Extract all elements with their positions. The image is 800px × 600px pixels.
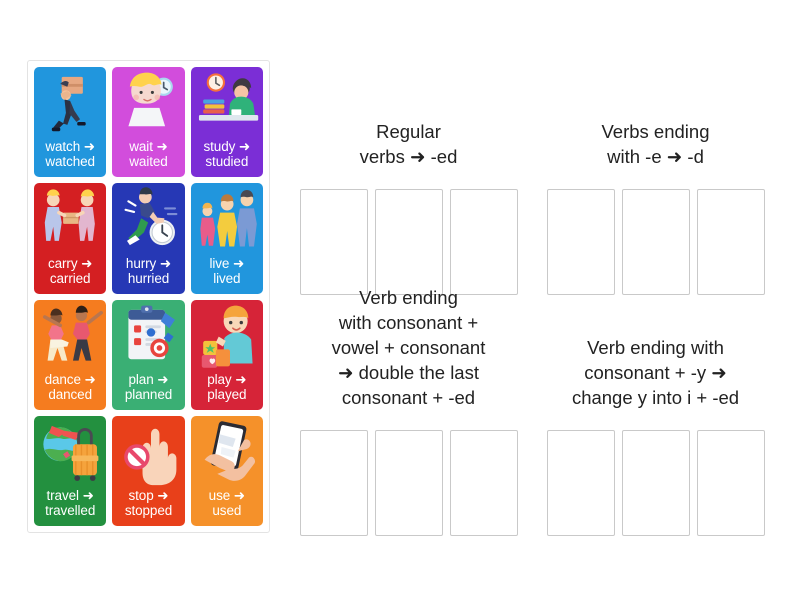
drop-slot[interactable]: [697, 430, 765, 536]
clipboard-plan-icon: [112, 300, 184, 371]
verb-tile-stop[interactable]: stop ➜ stopped: [112, 416, 184, 526]
drop-slot[interactable]: [375, 189, 443, 295]
verb-tile-wait[interactable]: wait ➜ waited: [112, 67, 184, 177]
category-group-cvc-double: Verb ending with consonant + vowel + con…: [286, 301, 531, 540]
verb-tile-study[interactable]: study ➜ studied: [191, 67, 263, 177]
verb-tile-caption: stop ➜ stopped: [112, 488, 184, 526]
student-books-clock-icon: [191, 67, 263, 138]
verb-tile-caption: hurry ➜ hurried: [112, 256, 184, 294]
drop-slot[interactable]: [450, 430, 518, 536]
verb-tile-caption: use ➜ used: [191, 488, 263, 526]
category-group-ending-e: Verbs ending with -e ➜ -d: [533, 60, 778, 299]
verb-tile-caption: wait ➜ waited: [112, 139, 184, 177]
stop-hand-icon: [112, 416, 184, 487]
verb-tile-hurry[interactable]: hurry ➜ hurried: [112, 183, 184, 293]
drop-slots-consonant-y: [533, 430, 778, 540]
category-title-ending-e: Verbs ending with -e ➜ -d: [533, 119, 778, 169]
category-group-consonant-y: Verb ending with consonant + -y ➜ change…: [533, 301, 778, 540]
two-people-box-icon: [34, 183, 106, 254]
drop-slots-regular: [286, 189, 531, 299]
drop-slots-ending-e: [533, 189, 778, 299]
verb-tile-caption: live ➜ lived: [191, 256, 263, 294]
verb-tile-plan[interactable]: plan ➜ planned: [112, 300, 184, 410]
drop-slot[interactable]: [300, 430, 368, 536]
sort-activity-page: watch ➜ watchedwait ➜ waitedstudy ➜ stud…: [0, 0, 800, 600]
verb-tile-carry[interactable]: carry ➜ carried: [34, 183, 106, 293]
drop-slot[interactable]: [547, 189, 615, 295]
verb-tile-caption: watch ➜ watched: [34, 139, 106, 177]
boy-with-clock-icon: [112, 67, 184, 138]
category-title-regular: Regular verbs ➜ -ed: [286, 119, 531, 169]
family-group-icon: [191, 183, 263, 254]
drop-slot[interactable]: [622, 430, 690, 536]
verb-tile-play[interactable]: play ➜ played: [191, 300, 263, 410]
dancing-couple-icon: [34, 300, 106, 371]
hand-phone-icon: [191, 416, 263, 487]
verb-tile-dance[interactable]: dance ➜ danced: [34, 300, 106, 410]
verb-tile-watch[interactable]: watch ➜ watched: [34, 67, 106, 177]
suitcase-globe-plane-icon: [34, 416, 106, 487]
running-person-clock-icon: [112, 183, 184, 254]
verb-tile-caption: study ➜ studied: [191, 139, 263, 177]
verb-tile-caption: dance ➜ danced: [34, 372, 106, 410]
drop-slots-cvc-double: [286, 430, 531, 540]
drop-slot[interactable]: [622, 189, 690, 295]
drop-slot[interactable]: [697, 189, 765, 295]
drop-slot[interactable]: [450, 189, 518, 295]
category-title-cvc-double: Verb ending with consonant + vowel + con…: [286, 285, 531, 410]
verb-tile-caption: play ➜ played: [191, 372, 263, 410]
verb-tile-travel[interactable]: travel ➜ travelled: [34, 416, 106, 526]
verb-tile-use[interactable]: use ➜ used: [191, 416, 263, 526]
drop-slot[interactable]: [300, 189, 368, 295]
child-blocks-icon: [191, 300, 263, 371]
verb-tile-caption: plan ➜ planned: [112, 372, 184, 410]
category-title-consonant-y: Verb ending with consonant + -y ➜ change…: [533, 335, 778, 410]
drop-slot[interactable]: [375, 430, 443, 536]
category-board: Regular verbs ➜ -edVerbs ending with -e …: [286, 60, 778, 538]
category-group-regular: Regular verbs ➜ -ed: [286, 60, 531, 299]
drop-slot[interactable]: [547, 430, 615, 536]
person-carrying-box-icon: [34, 67, 106, 138]
verb-tile-caption: travel ➜ travelled: [34, 488, 106, 526]
verb-tiles-tray[interactable]: watch ➜ watchedwait ➜ waitedstudy ➜ stud…: [27, 60, 270, 533]
verb-tile-live[interactable]: live ➜ lived: [191, 183, 263, 293]
verb-tile-caption: carry ➜ carried: [34, 256, 106, 294]
